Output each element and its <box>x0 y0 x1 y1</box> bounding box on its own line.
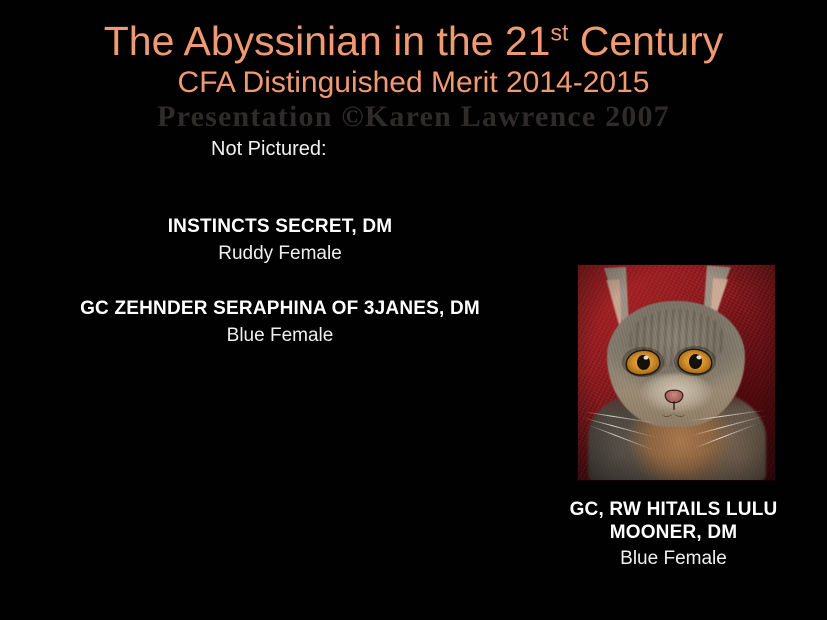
not-pictured-label: Not Pictured: <box>211 136 327 162</box>
not-pictured-entry: GC ZEHNDER SERAPHINA OF 3JANES, DM Blue … <box>24 296 536 350</box>
cat-color: Blue Female <box>24 322 536 350</box>
slide-subtitle: CFA Distinguished Merit 2014-2015 <box>0 66 827 100</box>
cat-illustration <box>578 265 775 480</box>
cat-name: INSTINCTS SECRET, DM <box>47 214 513 240</box>
cat-photo <box>578 265 775 480</box>
cat-name-line1: GC, RW HITAILS LULU <box>520 498 827 521</box>
slide-title-part2: Century <box>568 18 723 64</box>
not-pictured-entry: INSTINCTS SECRET, DM Ruddy Female <box>47 214 513 268</box>
cat-color: Blue Female <box>520 544 827 574</box>
cat-name-line2: MOONER, DM <box>520 521 827 544</box>
cat-color: Ruddy Female <box>47 240 513 268</box>
slide-title-superscript: st <box>550 19 568 45</box>
credit-watermark: Presentation ©Karen Lawrence 2007 <box>0 100 827 134</box>
slide-title-part1: The Abyssinian in the 21 <box>104 18 551 64</box>
presentation-slide: The Abyssinian in the 21st Century CFA D… <box>0 0 827 620</box>
cat-name: GC ZEHNDER SERAPHINA OF 3JANES, DM <box>24 296 536 322</box>
photo-caption: GC, RW HITAILS LULU MOONER, DM Blue Fema… <box>520 498 827 574</box>
cat-mouth-right <box>674 409 685 417</box>
slide-title: The Abyssinian in the 21st Century <box>0 18 827 64</box>
